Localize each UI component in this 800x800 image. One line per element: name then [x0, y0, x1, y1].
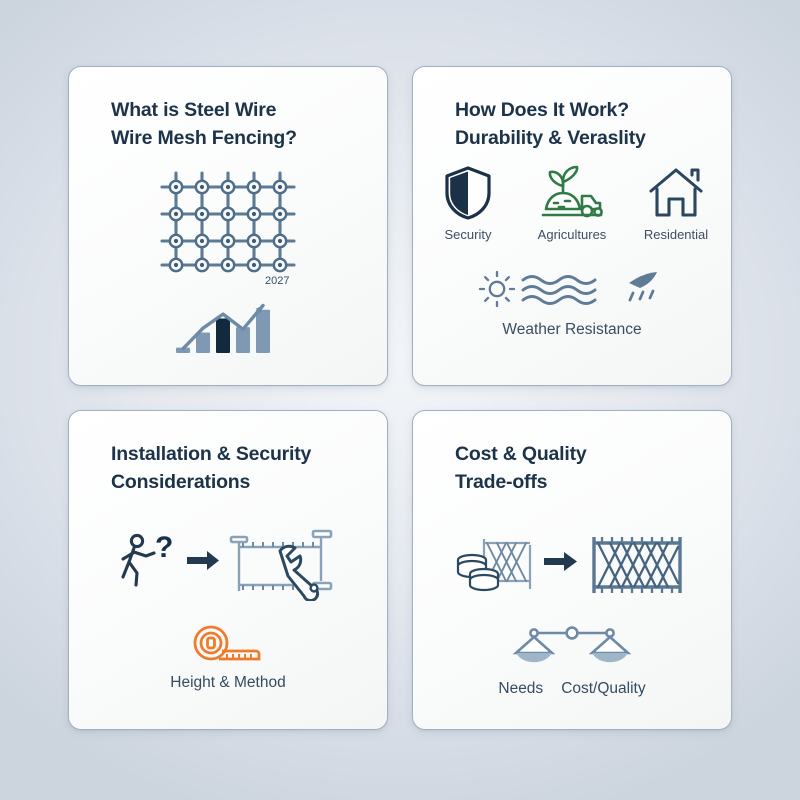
- use-case-label: Residential: [644, 227, 708, 242]
- card-title: How Does It Work? Durability & Veraslity: [455, 97, 715, 152]
- wrench-icon: [280, 546, 318, 600]
- card-title: Installation & Security Considerations: [111, 441, 371, 496]
- balance-labels: Needs Cost/Quality: [498, 680, 645, 698]
- balance-label-needs: Needs: [498, 680, 543, 698]
- card-body: 2027: [69, 163, 387, 375]
- shield-icon: [442, 165, 494, 221]
- installation-flow: ?: [69, 525, 387, 601]
- installation-flow-icons: ?: [115, 525, 341, 601]
- cost-quality-flow-icons: [454, 525, 690, 601]
- chart-bar: [256, 310, 270, 353]
- svg-text:?: ?: [155, 531, 173, 564]
- growth-chart: 2027: [69, 271, 387, 357]
- rain-icon: [629, 272, 657, 300]
- house-icon: [647, 165, 705, 221]
- card-body: ?: [69, 507, 387, 719]
- use-case-row: Security: [431, 165, 713, 242]
- card-title: Cost & Quality Trade-offs: [455, 441, 715, 496]
- person-question-icon: [123, 535, 154, 585]
- chart-bar: [236, 327, 250, 353]
- question-mark-icon: ?: [155, 531, 173, 564]
- balance-scale-icon: [508, 623, 636, 671]
- balance-label-cost-quality: Cost/Quality: [561, 680, 645, 698]
- fence-wrench-icon: [231, 531, 331, 601]
- growth-bar-chart-icon: 2027: [164, 271, 292, 357]
- weather-resistance-label: Weather Resistance: [502, 321, 641, 339]
- coins-icon: [458, 555, 498, 590]
- wire-mesh-grid-icon: [158, 169, 298, 273]
- use-case-label: Security: [445, 227, 492, 242]
- wind-waves-icon: [523, 277, 595, 304]
- card-grid: What is Steel Wire Wire Mesh Fencing?: [68, 66, 732, 730]
- height-method-label: Height & Method: [170, 674, 285, 692]
- chart-bar: [216, 318, 230, 353]
- infographic-page: What is Steel Wire Wire Mesh Fencing?: [0, 0, 800, 800]
- card-body: Needs Cost/Quality: [413, 507, 731, 719]
- chart-year-label: 2027: [265, 275, 289, 287]
- height-method-block: Height & Method: [69, 623, 387, 692]
- sun-icon: [480, 272, 514, 306]
- card-how-does-it-work[interactable]: How Does It Work? Durability & Veraslity…: [412, 66, 732, 386]
- use-case-agriculture[interactable]: Agricultures: [535, 165, 609, 242]
- weather-resistance-block: Weather Resistance: [413, 267, 731, 339]
- card-cost-and-quality-trade-offs[interactable]: Cost & Quality Trade-offs: [412, 410, 732, 730]
- agriculture-icon: [541, 165, 603, 221]
- use-case-label: Agricultures: [538, 227, 607, 242]
- card-body: Security: [413, 163, 731, 375]
- cost-quality-flow: [413, 525, 731, 601]
- card-title: What is Steel Wire Wire Mesh Fencing?: [111, 97, 371, 152]
- balance-block: Needs Cost/Quality: [413, 623, 731, 698]
- card-installation-and-security[interactable]: Installation & Security Considerations: [68, 410, 388, 730]
- use-case-residential[interactable]: Residential: [639, 165, 713, 242]
- weather-icons-group: [477, 267, 667, 311]
- coins-cheap-fence-icon: [458, 539, 530, 590]
- card-what-is-steel-wire-mesh-fencing[interactable]: What is Steel Wire Wire Mesh Fencing?: [68, 66, 388, 386]
- measuring-tape-icon: [191, 623, 265, 665]
- arrow-right-icon: [544, 552, 577, 571]
- use-case-security[interactable]: Security: [431, 165, 505, 242]
- arrow-right-icon: [187, 551, 219, 570]
- wire-mesh-illustration: [69, 169, 387, 273]
- quality-fence-icon: [594, 537, 680, 593]
